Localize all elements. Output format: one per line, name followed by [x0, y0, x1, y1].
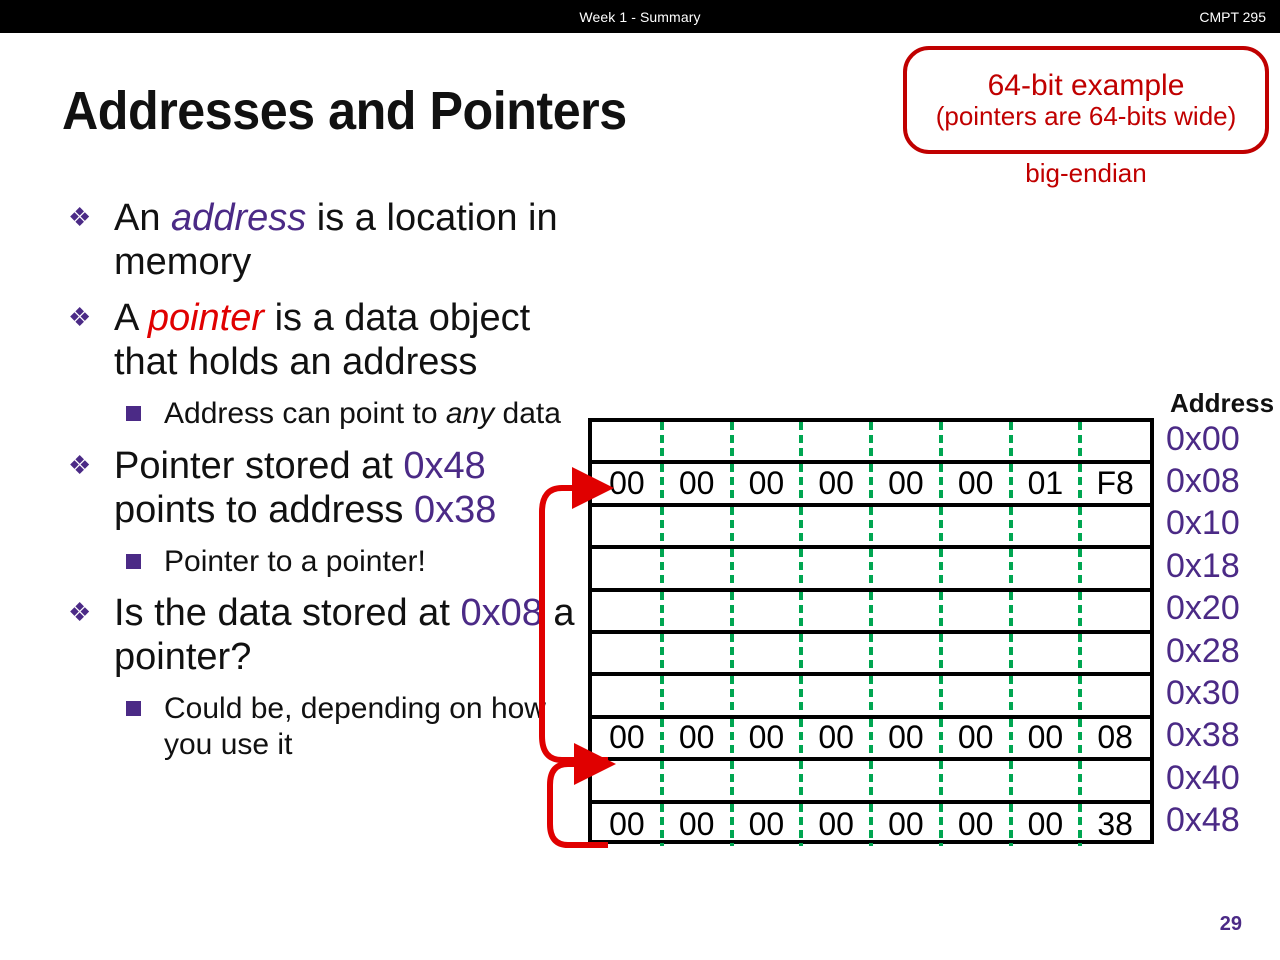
memory-row — [592, 592, 1150, 634]
address-label: 0x10 — [1166, 503, 1276, 545]
memory-byte-cell — [941, 549, 1011, 587]
memory-byte-cell: 00 — [662, 464, 732, 502]
memory-byte-cell: 00 — [732, 719, 802, 757]
memory-byte-cell — [1011, 634, 1081, 672]
memory-row — [592, 761, 1150, 803]
square-bullet-icon — [126, 554, 141, 569]
address-label: 0x08 — [1166, 460, 1276, 502]
memory-byte-cell — [1080, 761, 1150, 799]
address-label: 0x20 — [1166, 588, 1276, 630]
bullet-text-run: 0x48 — [403, 445, 485, 487]
memory-byte-cell: 00 — [941, 804, 1011, 846]
memory-byte-cell — [662, 676, 732, 714]
square-bullet-icon — [126, 701, 141, 716]
bullet-text-run: 0x38 — [414, 489, 496, 531]
memory-byte-cell — [941, 634, 1011, 672]
diamond-cluster-bullet-icon: ❖ — [68, 446, 91, 485]
bullet-item: Address can point to any data — [56, 396, 576, 431]
bullet-text-run: An — [114, 197, 171, 239]
slide-header-bar: Week 1 - Summary CMPT 295 — [0, 0, 1280, 33]
memory-byte-cell — [871, 422, 941, 460]
memory-byte-cell: 00 — [732, 464, 802, 502]
bullet-item: ❖Pointer stored at 0x48 points to addres… — [56, 444, 576, 532]
memory-byte-cell — [941, 676, 1011, 714]
memory-row: 0000000000000008 — [592, 719, 1150, 761]
memory-byte-cell: 00 — [662, 719, 732, 757]
memory-byte-cell — [801, 761, 871, 799]
memory-byte-cell — [1080, 507, 1150, 545]
memory-byte-cell — [871, 549, 941, 587]
memory-byte-cell — [871, 634, 941, 672]
square-bullet-icon — [126, 406, 141, 421]
memory-byte-cell — [801, 549, 871, 587]
address-label: 0x18 — [1166, 545, 1276, 587]
memory-byte-cell — [801, 676, 871, 714]
memory-byte-cell: 00 — [871, 719, 941, 757]
memory-row — [592, 422, 1150, 464]
bullet-text-run: points to address — [114, 489, 414, 531]
address-column: 0x000x080x100x180x200x280x300x380x400x48 — [1166, 418, 1276, 842]
memory-byte-cell — [1011, 592, 1081, 630]
memory-byte-cell — [941, 592, 1011, 630]
callout-box: 64-bit example (pointers are 64-bits wid… — [903, 46, 1269, 154]
address-label: 0x48 — [1166, 800, 1276, 842]
memory-byte-cell — [732, 676, 802, 714]
memory-byte-cell — [592, 676, 662, 714]
memory-byte-cell — [941, 422, 1011, 460]
bullet-text-run: 0x08 — [460, 592, 542, 634]
memory-byte-cell: 00 — [801, 719, 871, 757]
memory-byte-cell — [871, 676, 941, 714]
memory-byte-cell — [662, 422, 732, 460]
memory-byte-cell — [801, 634, 871, 672]
memory-byte-cell — [1011, 507, 1081, 545]
memory-byte-cell — [1080, 592, 1150, 630]
memory-row — [592, 676, 1150, 718]
memory-byte-cell: 00 — [732, 804, 802, 846]
bullet-text-run: address — [171, 197, 306, 239]
memory-byte-cell: 00 — [941, 719, 1011, 757]
memory-byte-cell — [801, 507, 871, 545]
memory-byte-cell — [662, 592, 732, 630]
page-number: 29 — [1220, 913, 1242, 936]
bullet-text-run: data — [494, 397, 561, 430]
slide-canvas: Week 1 - Summary CMPT 295 Addresses and … — [0, 0, 1280, 960]
memory-byte-cell — [1011, 761, 1081, 799]
bullet-item: Pointer to a pointer! — [56, 544, 576, 579]
memory-byte-cell — [871, 592, 941, 630]
memory-byte-cell — [732, 422, 802, 460]
memory-table: 00000000000001F8000000000000000800000000… — [588, 418, 1154, 844]
memory-byte-cell: F8 — [1080, 464, 1150, 502]
memory-byte-cell — [732, 592, 802, 630]
memory-byte-cell — [592, 507, 662, 545]
memory-byte-cell — [1080, 634, 1150, 672]
memory-byte-cell — [801, 592, 871, 630]
diamond-cluster-bullet-icon: ❖ — [68, 298, 91, 337]
diamond-cluster-bullet-icon: ❖ — [68, 198, 91, 237]
diamond-cluster-bullet-icon: ❖ — [68, 593, 91, 632]
memory-byte-cell — [1011, 422, 1081, 460]
bullet-text-run: Could be, depending on how you use it — [164, 692, 546, 760]
memory-byte-cell — [732, 634, 802, 672]
bullet-item: ❖Is the data stored at 0x08 a pointer? — [56, 591, 576, 679]
memory-byte-cell — [662, 634, 732, 672]
memory-byte-cell — [662, 761, 732, 799]
memory-byte-cell: 00 — [801, 804, 871, 846]
memory-byte-cell — [592, 761, 662, 799]
bullet-item: ❖A pointer is a data object that holds a… — [56, 296, 576, 384]
bullet-text-run: pointer — [148, 297, 264, 339]
memory-byte-cell — [941, 507, 1011, 545]
address-label: 0x38 — [1166, 715, 1276, 757]
memory-row: 00000000000001F8 — [592, 464, 1150, 506]
bullet-text-run: Is the data stored at — [114, 592, 460, 634]
memory-byte-cell — [662, 549, 732, 587]
memory-byte-cell — [592, 592, 662, 630]
memory-byte-cell: 01 — [1011, 464, 1081, 502]
memory-byte-cell: 38 — [1080, 804, 1150, 846]
bullet-item: ❖An address is a location in memory — [56, 196, 576, 284]
bullet-text-run: Address can point to — [164, 397, 446, 430]
memory-byte-cell — [732, 761, 802, 799]
endianness-label: big-endian — [903, 158, 1269, 189]
memory-byte-cell: 00 — [592, 804, 662, 846]
memory-byte-cell: 00 — [592, 719, 662, 757]
memory-byte-cell: 00 — [941, 464, 1011, 502]
memory-byte-cell — [1011, 676, 1081, 714]
bullet-list: ❖An address is a location in memory❖A po… — [56, 196, 576, 774]
memory-byte-cell: 00 — [662, 804, 732, 846]
memory-byte-cell: 00 — [1011, 719, 1081, 757]
memory-byte-cell — [662, 507, 732, 545]
memory-row — [592, 549, 1150, 591]
memory-row: 0000000000000038 — [592, 804, 1150, 846]
memory-byte-cell — [732, 507, 802, 545]
memory-byte-cell — [1080, 422, 1150, 460]
memory-byte-cell: 08 — [1080, 719, 1150, 757]
bullet-text-run: Pointer stored at — [114, 445, 403, 487]
bullet-text-run: Pointer to a pointer! — [164, 545, 426, 578]
memory-byte-cell: 00 — [1011, 804, 1081, 846]
memory-byte-cell: 00 — [871, 464, 941, 502]
callout-line-1: 64-bit example — [988, 69, 1185, 103]
memory-byte-cell — [1011, 549, 1081, 587]
memory-row — [592, 634, 1150, 676]
bullet-item: Could be, depending on how you use it — [56, 691, 576, 762]
address-label: 0x40 — [1166, 757, 1276, 799]
memory-byte-cell — [801, 422, 871, 460]
header-course-code: CMPT 295 — [1199, 0, 1266, 33]
bullet-text-run: A — [114, 297, 148, 339]
memory-byte-cell — [1080, 549, 1150, 587]
memory-byte-cell — [592, 549, 662, 587]
address-label: 0x00 — [1166, 418, 1276, 460]
memory-byte-cell — [592, 634, 662, 672]
memory-byte-cell — [871, 761, 941, 799]
memory-byte-cell: 00 — [871, 804, 941, 846]
memory-byte-cell — [732, 549, 802, 587]
callout-line-2: (pointers are 64-bits wide) — [936, 102, 1237, 131]
bullet-text-run: any — [446, 397, 494, 430]
memory-byte-cell — [871, 507, 941, 545]
memory-byte-cell: 00 — [592, 464, 662, 502]
address-label: 0x28 — [1166, 630, 1276, 672]
address-label: 0x30 — [1166, 672, 1276, 714]
page-title: Addresses and Pointers — [62, 80, 627, 142]
memory-byte-cell: 00 — [801, 464, 871, 502]
memory-byte-cell — [941, 761, 1011, 799]
memory-row — [592, 507, 1150, 549]
address-column-header: Address — [1170, 388, 1274, 419]
memory-byte-cell — [1080, 676, 1150, 714]
memory-byte-cell — [592, 422, 662, 460]
header-title: Week 1 - Summary — [0, 0, 1280, 33]
